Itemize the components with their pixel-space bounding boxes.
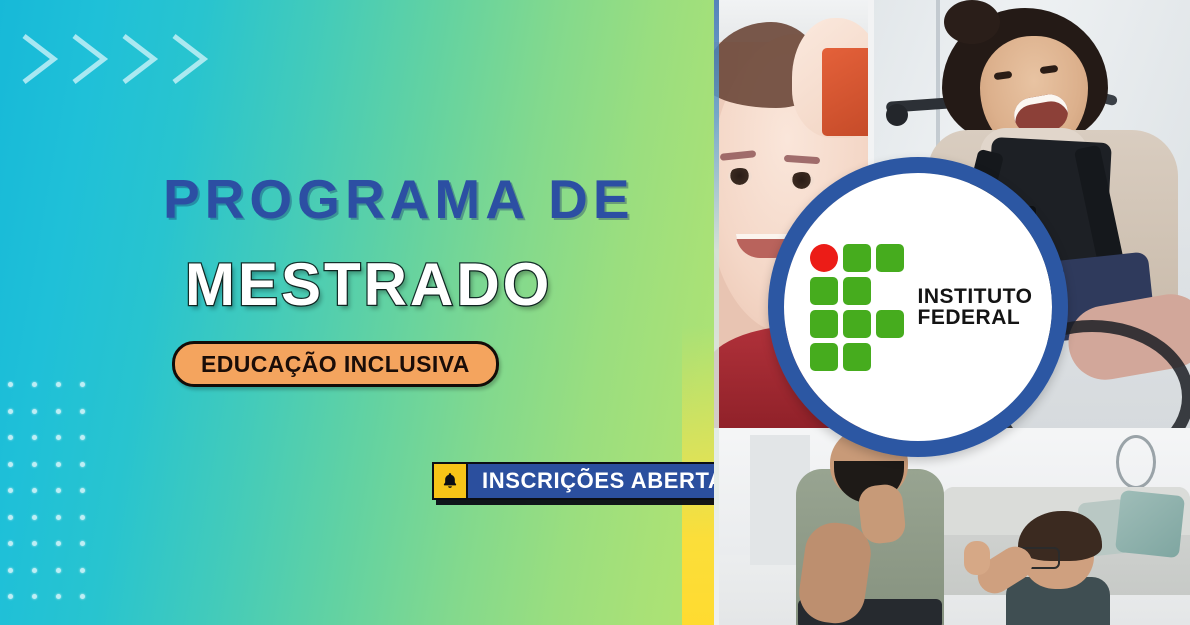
girl-hair-bun (944, 0, 1000, 44)
wall-decor-ring (1116, 435, 1156, 489)
enrollment-open-badge[interactable]: INSCRIÇÕES ABERTAS (432, 462, 758, 500)
logo-ring (768, 157, 1068, 457)
promotional-banner: PROGRAMA DE MESTRADO EDUCAÇÃO INCLUSIVA … (0, 0, 1190, 625)
instituto-federal-logo: INSTITUTO FEDERAL (768, 157, 1068, 457)
wheelchair-knob-left (886, 104, 908, 126)
page-title-line2: MESTRADO (185, 255, 552, 315)
subject-pill-label: EDUCAÇÃO INCLUSIVA (201, 353, 470, 376)
headline-block: PROGRAMA DE MESTRADO EDUCAÇÃO INCLUSIVA … (0, 0, 740, 625)
enrollment-open-label: INSCRIÇÕES ABERTAS (482, 470, 740, 492)
photo-family-sign-language (714, 435, 1190, 625)
toddler-eye-left (728, 168, 752, 185)
subject-pill: EDUCAÇÃO INCLUSIVA (172, 341, 499, 387)
page-title-line1: PROGRAMA DE (163, 172, 635, 227)
child-signing-hand (964, 541, 990, 575)
toy-block (822, 48, 872, 136)
adult-signing-hand (857, 483, 907, 545)
bell-icon (432, 462, 468, 500)
photo-area-left-edge (714, 0, 719, 625)
sofa-pillow (1115, 490, 1185, 558)
